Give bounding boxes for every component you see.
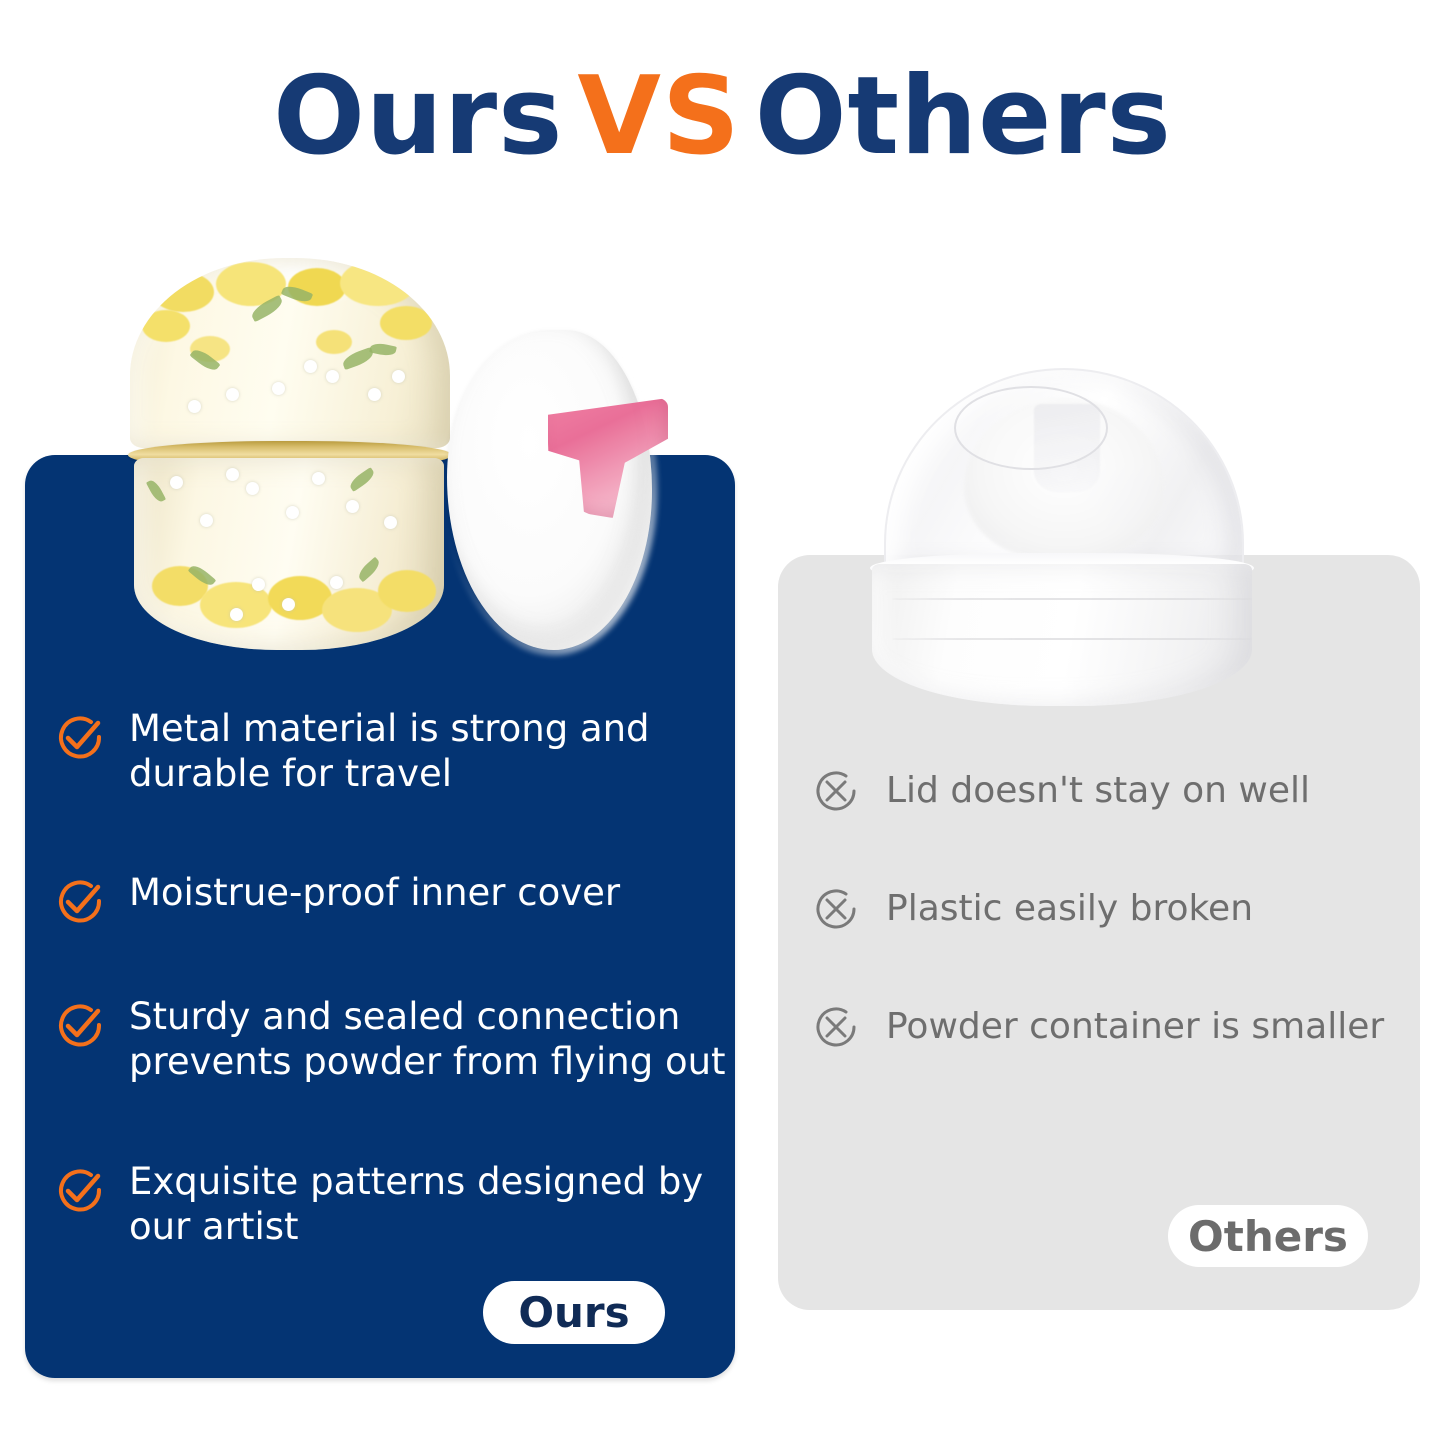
feature-text: Moistrue-proof inner cover <box>129 870 620 915</box>
list-item: Metal material is strong and durable for… <box>55 706 735 796</box>
check-circle-icon <box>55 876 105 926</box>
list-item: Plastic easily broken <box>812 885 1412 933</box>
list-item: Sturdy and sealed connection prevents po… <box>55 994 735 1084</box>
ours-product-image <box>120 258 460 658</box>
dome-oval-highlight <box>954 386 1108 470</box>
feature-text: Metal material is strong and durable for… <box>129 706 729 796</box>
check-circle-icon <box>55 1165 105 1215</box>
powder-puff <box>447 330 652 650</box>
ours-feature-list: Metal material is strong and durable for… <box>55 706 735 1293</box>
others-product-image <box>862 368 1262 713</box>
page-title: OursVSOthers <box>0 58 1445 177</box>
drawback-text: Lid doesn't stay on well <box>886 769 1310 812</box>
feature-text: Sturdy and sealed connection prevents po… <box>129 994 729 1084</box>
comparison-infographic: OursVSOthers <box>0 0 1445 1445</box>
others-badge: Others <box>1168 1205 1368 1267</box>
title-word-vs: VS <box>577 54 740 179</box>
ours-badge: Ours <box>483 1281 665 1344</box>
feature-text: Exquisite patterns designed by our artis… <box>129 1159 729 1249</box>
tin-lid <box>130 258 450 448</box>
tin-base <box>134 458 444 650</box>
x-circle-icon <box>812 885 860 933</box>
title-word-others: Others <box>755 54 1172 179</box>
x-circle-icon <box>812 1003 860 1051</box>
list-item: Exquisite patterns designed by our artis… <box>55 1159 735 1249</box>
plastic-base <box>872 564 1252 706</box>
list-item: Lid doesn't stay on well <box>812 767 1412 815</box>
plastic-dome-lid <box>884 368 1244 572</box>
others-drawback-list: Lid doesn't stay on well Plastic easily … <box>812 767 1412 1121</box>
drawback-text: Plastic easily broken <box>886 887 1253 930</box>
check-circle-icon <box>55 1000 105 1050</box>
title-word-ours: Ours <box>273 54 563 179</box>
check-circle-icon <box>55 712 105 762</box>
x-circle-icon <box>812 767 860 815</box>
list-item: Moistrue-proof inner cover <box>55 870 735 926</box>
drawback-text: Powder container is smaller <box>886 1005 1384 1048</box>
list-item: Powder container is smaller <box>812 1003 1412 1051</box>
